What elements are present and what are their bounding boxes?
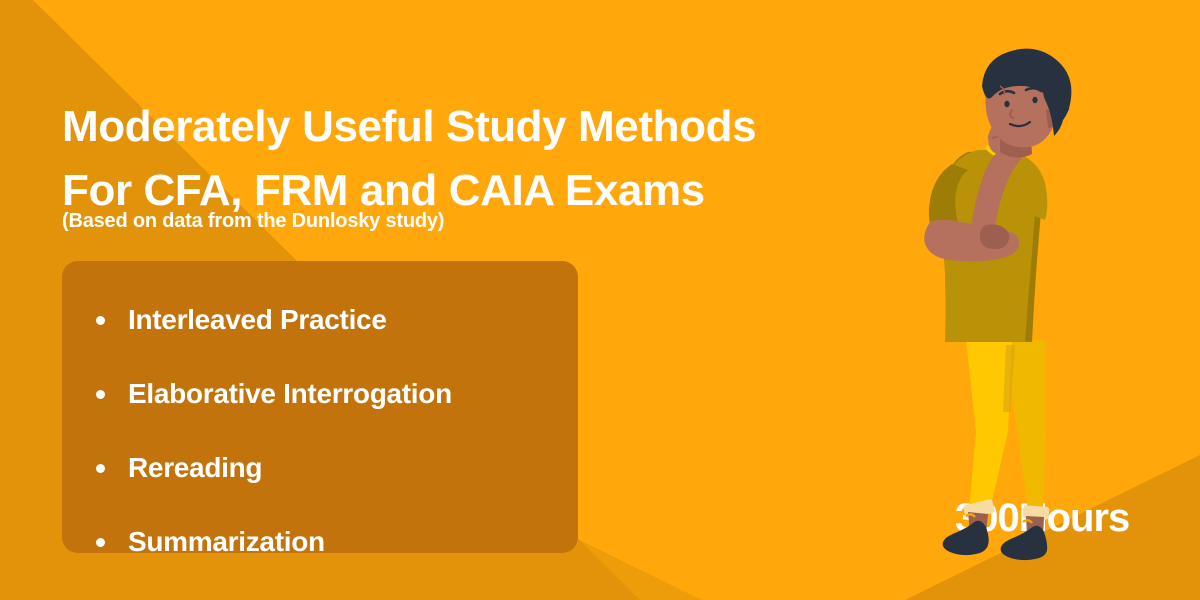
methods-card: Interleaved Practice Elaborative Interro… [62,261,578,553]
infographic-canvas: Moderately Useful Study Methods For CFA,… [0,0,1200,600]
front-shoe [943,521,989,555]
method-label: Elaborative Interrogation [128,378,452,410]
headline-line-1: Moderately Useful Study Methods [62,102,756,151]
list-item: Rereading [62,431,578,505]
back-shoe [1001,526,1048,560]
page-title: Moderately Useful Study Methods For CFA,… [62,95,892,222]
eye-right [1032,97,1037,103]
eye-left [1004,101,1009,107]
bullet-dot-icon [96,390,105,399]
list-item: Interleaved Practice [62,283,578,357]
method-label: Interleaved Practice [128,304,387,336]
list-item: Summarization [62,505,578,579]
list-item: Elaborative Interrogation [62,357,578,431]
subtitle: (Based on data from the Dunlosky study) [62,210,444,233]
bullet-dot-icon [96,464,105,473]
methods-list: Interleaved Practice Elaborative Interro… [62,283,578,579]
bullet-dot-icon [96,316,105,325]
bullet-dot-icon [96,538,105,547]
thinking-person-illustration [860,40,1120,570]
method-label: Rereading [128,452,262,484]
method-label: Summarization [128,526,325,558]
